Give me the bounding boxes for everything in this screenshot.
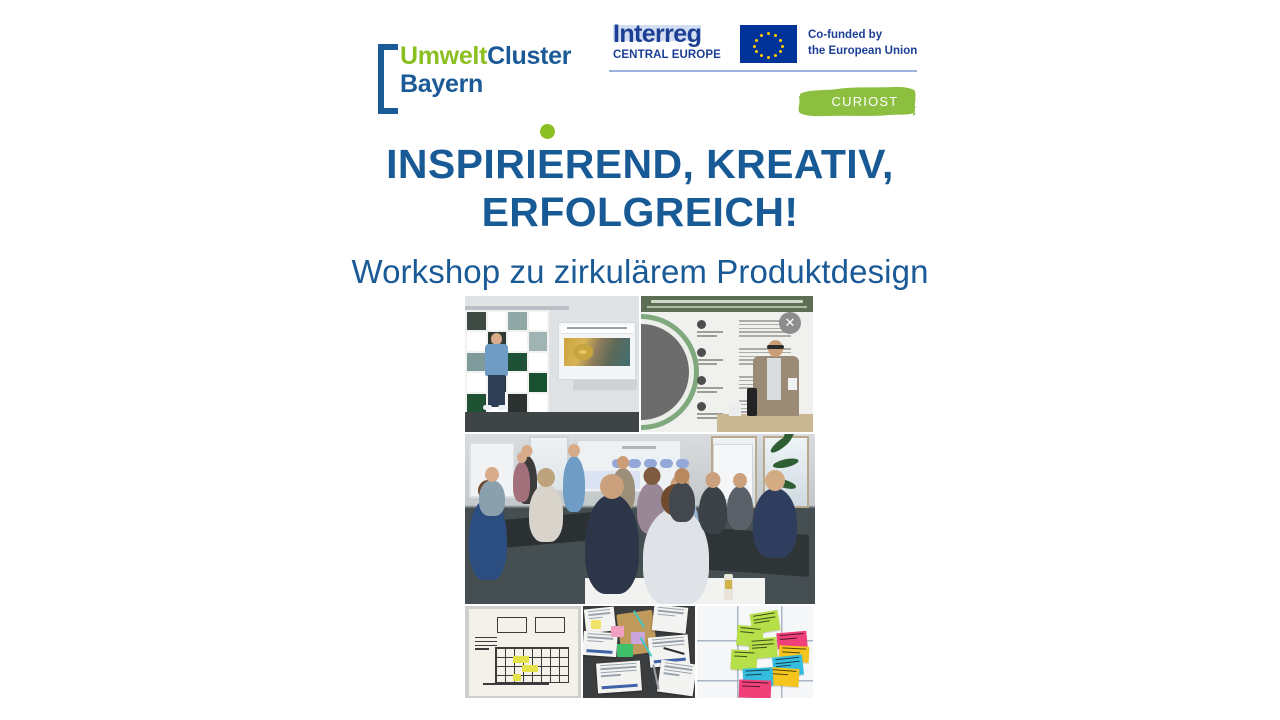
curiost-badge: CURIOST bbox=[797, 85, 917, 118]
photo-speaker-projection bbox=[465, 296, 639, 432]
photo-worksheets-table bbox=[581, 606, 695, 698]
lectern bbox=[717, 414, 813, 432]
eu-flag-icon bbox=[740, 25, 797, 63]
curiost-label: CURIOST bbox=[797, 85, 917, 118]
interreg-wordmark: Interreg bbox=[613, 22, 701, 47]
umweltcluster-bayern-logo: UmweltCluster Bayern bbox=[378, 44, 571, 97]
projection-screen bbox=[558, 322, 636, 380]
poster-main-title: INSPIRIEREND, KREATIV, ERFOLGREICH! bbox=[0, 140, 1280, 237]
logo-word-umwelt: Umwelt bbox=[400, 42, 487, 70]
header-divider bbox=[609, 70, 917, 72]
collage-row-middle bbox=[465, 432, 815, 604]
eu-text-line1: Co-funded by bbox=[808, 28, 917, 44]
poster-page: UmweltCluster Bayern Interreg CENTRAL EU… bbox=[0, 0, 1280, 720]
photo-hand-sketch bbox=[465, 606, 581, 698]
close-icon: ✕ bbox=[779, 312, 801, 334]
poster-header: UmweltCluster Bayern Interreg CENTRAL EU… bbox=[0, 0, 1280, 130]
title-line-2: ERFOLGREICH! bbox=[0, 188, 1280, 236]
eu-cofunded-logo: Co-funded by the European Union bbox=[740, 25, 917, 63]
umweltcluster-wordmark: UmweltCluster Bayern bbox=[400, 44, 571, 97]
photo-sticky-notes-board bbox=[695, 606, 813, 698]
circular-diagram: 01 bbox=[639, 324, 689, 420]
collage-row-bottom bbox=[465, 604, 815, 698]
poster-subtitle: Workshop zu zirkulärem Produktdesign bbox=[0, 253, 1280, 291]
bracket-icon bbox=[378, 44, 392, 97]
collage-row-top: 01 ✕ bbox=[465, 296, 815, 432]
eu-text-line2: the European Union bbox=[808, 44, 917, 60]
photo-slide-circular-economy: 01 ✕ bbox=[639, 296, 813, 432]
logo-word-bayern: Bayern bbox=[400, 72, 571, 97]
sketch-paper bbox=[469, 609, 578, 696]
title-line-1: INSPIRIEREND, KREATIV, bbox=[0, 140, 1280, 188]
title-block: INSPIRIEREND, KREATIV, ERFOLGREICH! Work… bbox=[0, 140, 1280, 291]
logo-word-cluster: Cluster bbox=[487, 42, 571, 70]
interreg-subtitle: CENTRAL EUROPE bbox=[613, 49, 721, 61]
eu-cofunded-text: Co-funded by the European Union bbox=[808, 28, 917, 59]
photo-collage: 01 ✕ bbox=[465, 296, 815, 698]
green-dot-icon bbox=[540, 124, 555, 139]
interreg-logo: Interreg CENTRAL EUROPE bbox=[613, 22, 721, 61]
photo-workshop-room bbox=[465, 434, 815, 604]
